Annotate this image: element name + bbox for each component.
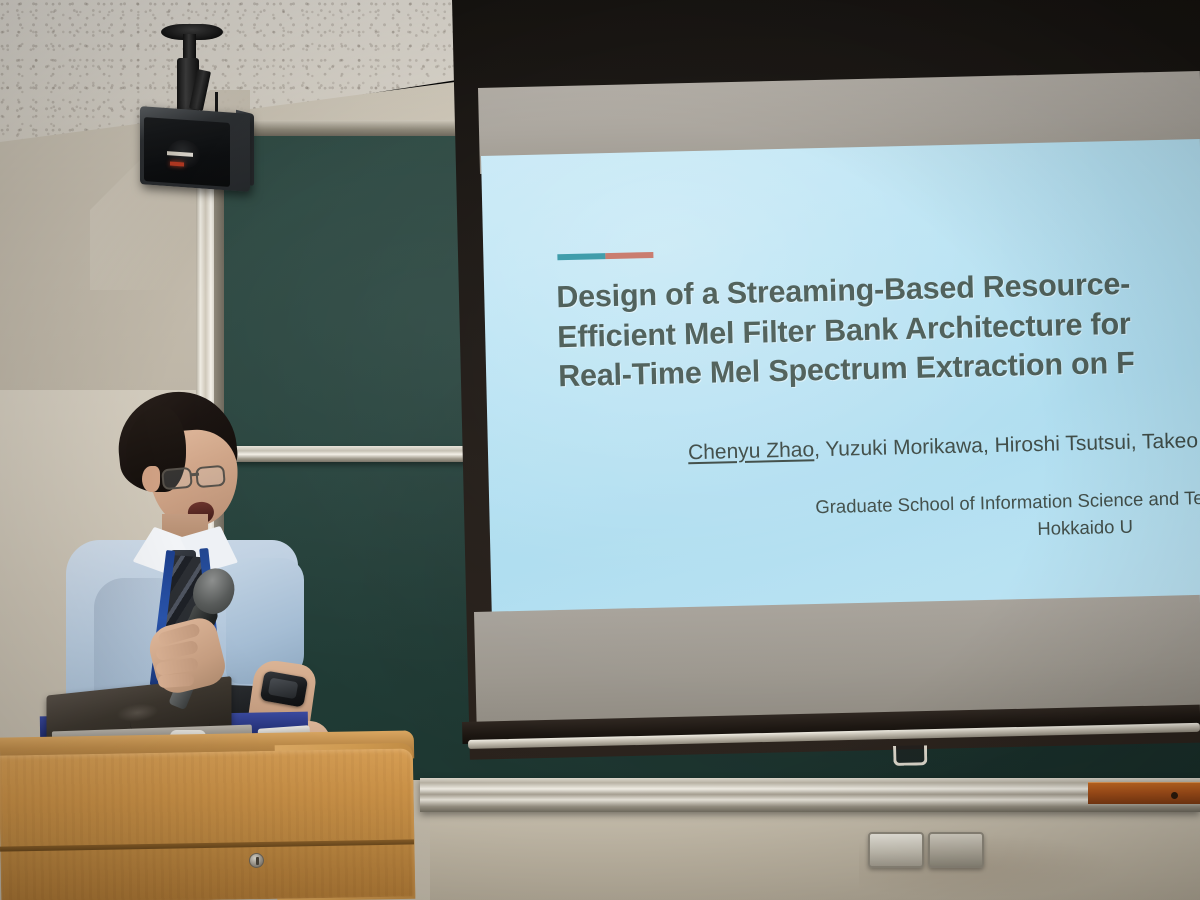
chalk-holder-right[interactable] bbox=[928, 832, 984, 868]
accent-segment-teal bbox=[557, 253, 605, 260]
presenter-finger bbox=[158, 673, 195, 688]
slide-authors: Chenyu Zhao, Yuzuki Morikawa, Hiroshi Ts… bbox=[688, 429, 1199, 465]
affiliation-line-2: Hokkaido U bbox=[966, 512, 1200, 544]
presentation-photo: Design of a Streaming-Based Resource- Ef… bbox=[0, 0, 1200, 900]
accent-segment-salmon bbox=[605, 252, 653, 259]
podium-lock[interactable] bbox=[249, 853, 264, 868]
projected-slide: Design of a Streaming-Based Resource- Ef… bbox=[481, 139, 1200, 628]
eyeglasses-right-lens bbox=[195, 465, 226, 488]
board-eraser[interactable] bbox=[1088, 782, 1200, 804]
presenter-ear bbox=[142, 466, 160, 492]
chalk-tray bbox=[420, 778, 1200, 812]
presenting-author-name: Chenyu Zhao bbox=[688, 438, 815, 464]
slide-accent-bar bbox=[557, 252, 653, 260]
podium-front-panel bbox=[0, 748, 415, 900]
eyeglasses-left-lens bbox=[161, 467, 193, 491]
wall-below-chalkboard bbox=[430, 800, 1200, 900]
slide-title: Design of a Streaming-Based Resource- Ef… bbox=[556, 260, 1200, 397]
chalk-holder-left[interactable] bbox=[868, 832, 924, 868]
coauthor-names: , Yuzuki Morikawa, Hiroshi Tsutsui, Take… bbox=[814, 429, 1198, 461]
presenter bbox=[30, 390, 330, 740]
slide-affiliation: Graduate School of Information Science a… bbox=[815, 485, 1200, 548]
screen-pull-handle[interactable] bbox=[893, 745, 927, 766]
